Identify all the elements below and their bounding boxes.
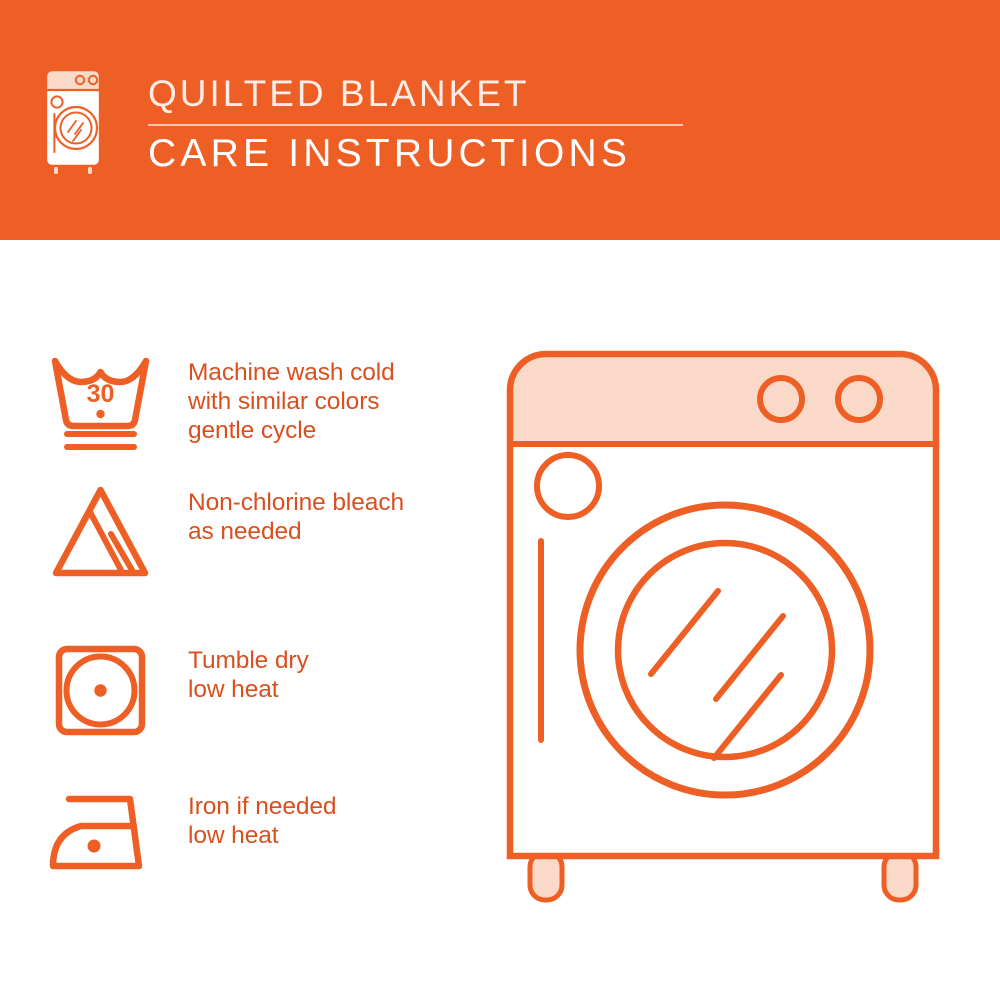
care-text-iron: Iron if needed low heat: [188, 786, 336, 850]
washer-control-panel: [510, 354, 936, 444]
header-text-block: QUILTED BLANKET CARE INSTRUCTIONS: [148, 72, 688, 178]
care-row-dry: Tumble dry low heat: [48, 640, 309, 740]
page-title-primary: QUILTED BLANKET: [148, 72, 688, 116]
page-title-secondary: CARE INSTRUCTIONS: [148, 130, 688, 178]
care-row-iron: Iron if needed low heat: [48, 786, 336, 876]
wash-tub-30-icon: 30: [48, 352, 153, 454]
washing-machine-icon: [42, 62, 104, 177]
care-instructions-infographic: QUILTED BLANKET CARE INSTRUCTIONS 30 Mac…: [0, 0, 1000, 1000]
wash-temperature-value: 30: [87, 380, 115, 408]
tumble-dry-low-heat-icon: [48, 640, 153, 740]
iron-low-heat-icon: [48, 786, 158, 876]
title-divider: [148, 124, 683, 126]
non-chlorine-bleach-triangle-icon: [48, 482, 153, 582]
care-row-wash: 30 Machine wash cold with similar colors…: [48, 352, 395, 454]
header-band: QUILTED BLANKET CARE INSTRUCTIONS: [0, 0, 1000, 240]
care-symbol-dry: [48, 640, 158, 740]
front-load-washing-machine-illustration: [488, 332, 958, 932]
care-text-dry: Tumble dry low heat: [188, 640, 309, 704]
care-row-bleach: Non-chlorine bleach as needed: [48, 482, 404, 582]
care-text-bleach: Non-chlorine bleach as needed: [188, 482, 404, 546]
care-symbol-wash: 30: [48, 352, 158, 454]
care-text-wash: Machine wash cold with similar colors ge…: [188, 352, 395, 445]
care-symbol-bleach: [48, 482, 158, 582]
care-symbol-iron: [48, 786, 158, 876]
